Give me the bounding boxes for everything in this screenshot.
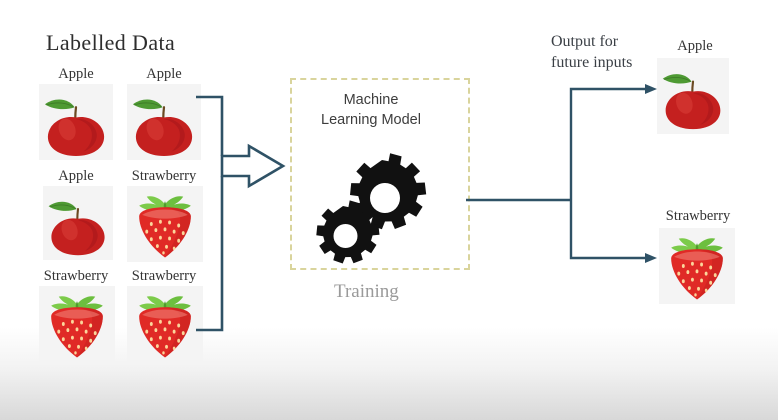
strawberry-icon bbox=[39, 286, 115, 362]
labelled-item-label-5: Strawberry bbox=[30, 268, 122, 285]
output-item-label-2: Strawberry bbox=[652, 208, 744, 225]
input-block-arrow bbox=[222, 146, 283, 186]
output-arrowhead-top bbox=[645, 84, 657, 94]
training-label: Training bbox=[334, 281, 399, 303]
output-item-label-1: Apple bbox=[655, 38, 735, 55]
apple-icon bbox=[39, 84, 113, 160]
labelled-item-image-3[interactable] bbox=[43, 186, 113, 260]
apple-icon bbox=[127, 84, 201, 160]
output-caption: Output for future inputs bbox=[551, 31, 632, 73]
output-item-image-2[interactable] bbox=[659, 228, 735, 304]
diagram-canvas: Labelled Data Apple Apple Apple Strawber… bbox=[0, 0, 778, 420]
strawberry-icon bbox=[127, 186, 203, 262]
labelled-item-image-1[interactable] bbox=[39, 84, 113, 160]
labelled-item-label-2: Apple bbox=[124, 66, 204, 83]
labelled-item-image-4[interactable] bbox=[127, 186, 203, 262]
output-item-image-1[interactable] bbox=[657, 58, 729, 134]
model-title: Machine Learning Model bbox=[296, 90, 446, 130]
strawberry-icon bbox=[127, 286, 203, 362]
labelled-item-image-2[interactable] bbox=[127, 84, 201, 160]
gears-illustration bbox=[310, 148, 430, 266]
apple-icon bbox=[43, 186, 113, 260]
strawberry-icon bbox=[659, 228, 735, 304]
output-caption-line-2: future inputs bbox=[551, 52, 632, 73]
output-caption-line-1: Output for bbox=[551, 31, 632, 52]
apple-icon bbox=[657, 58, 729, 134]
output-arrowhead-bottom bbox=[645, 253, 657, 263]
labelled-data-title: Labelled Data bbox=[46, 30, 175, 56]
labelled-item-label-1: Apple bbox=[36, 66, 116, 83]
model-title-line-1: Machine bbox=[296, 90, 446, 110]
labelled-item-image-6[interactable] bbox=[127, 286, 203, 362]
output-connector-lines bbox=[466, 89, 645, 258]
model-title-line-2: Learning Model bbox=[296, 110, 446, 130]
labelled-item-label-3: Apple bbox=[36, 168, 116, 185]
labelled-item-image-5[interactable] bbox=[39, 286, 115, 362]
labelled-item-label-6: Strawberry bbox=[118, 268, 210, 285]
labelled-item-label-4: Strawberry bbox=[118, 168, 210, 185]
